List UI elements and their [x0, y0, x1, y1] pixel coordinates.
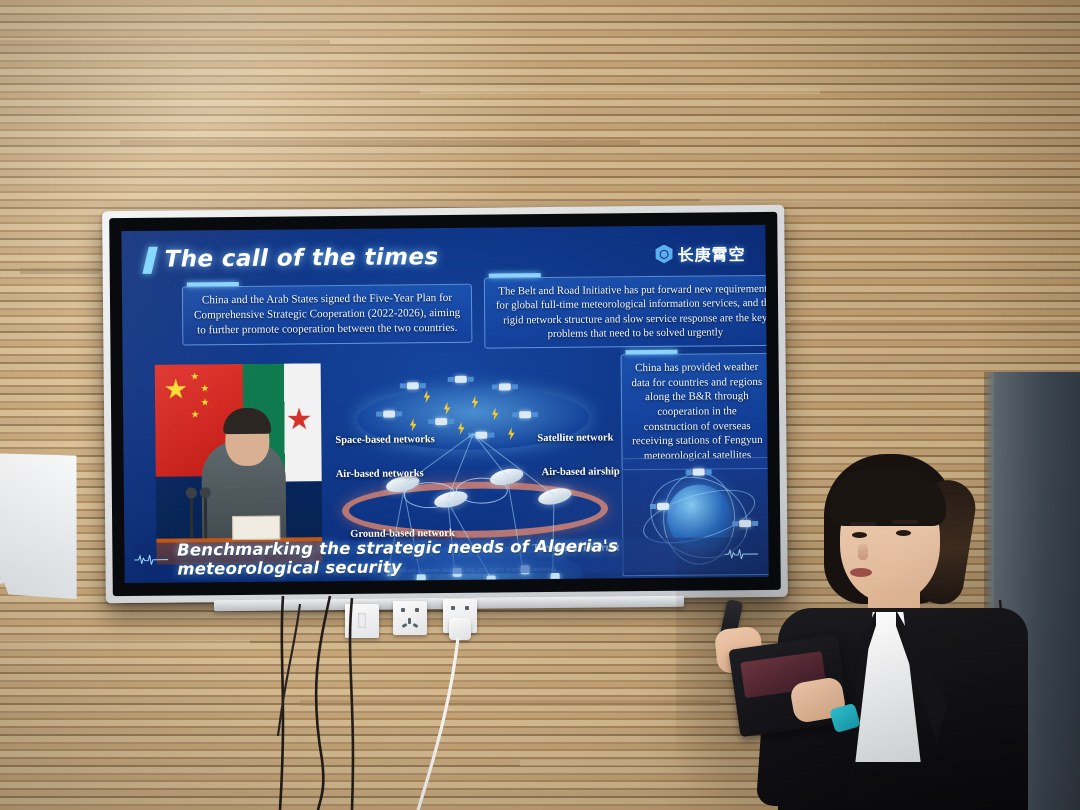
- presenter-eyebrow: [850, 522, 876, 526]
- logo-text: 长庚霄空: [677, 241, 745, 266]
- wall-slat-streak: [120, 140, 640, 146]
- presenter-hair-front: [828, 468, 946, 526]
- presenter: [700, 452, 1030, 810]
- microphone: [204, 494, 207, 538]
- microphone: [190, 494, 193, 538]
- wall-slat-streak: [0, 640, 250, 646]
- satellite-icon: [657, 503, 669, 510]
- flag-star: [191, 372, 199, 380]
- flag-star: [165, 378, 187, 400]
- callout-accent-tab: [489, 273, 541, 277]
- flag-star: [201, 398, 209, 406]
- flag-star: [287, 407, 311, 431]
- slide-title: The call of the times: [164, 244, 438, 273]
- presenter-mouth: [850, 568, 872, 577]
- hexagon-logo-icon: [655, 244, 672, 263]
- ecg-waveform-icon: [134, 552, 168, 568]
- callout-text: China has provided weather data for coun…: [631, 361, 762, 462]
- presenter-nose: [858, 544, 868, 560]
- wall-slat-streak: [0, 40, 330, 46]
- wall-slat-streak: [20, 268, 100, 274]
- television[interactable]: The call of the times 长庚霄空 China and the…: [102, 205, 788, 604]
- callout-accent-tab: [625, 350, 677, 354]
- power-outlet-1[interactable]: [393, 601, 427, 635]
- wall-slat-streak: [420, 88, 820, 94]
- diagram-label-space-based-networks: Space-based networks: [335, 434, 435, 446]
- company-logo: 长庚霄空: [655, 241, 745, 266]
- wall-slat-streak: [700, 196, 1080, 202]
- leader-photo: [155, 363, 323, 565]
- wall-slat-streak: [300, 700, 720, 706]
- callout-text: China and the Arab States signed the Fiv…: [194, 292, 460, 336]
- presenter-eye: [896, 530, 911, 536]
- callout-belt-and-road: The Belt and Road Initiative has put for…: [484, 275, 769, 349]
- presentation-slide: The call of the times 长庚霄空 China and the…: [121, 225, 768, 583]
- wall-slat-streak: [790, 320, 1080, 326]
- wall-paper-sheet: [0, 451, 80, 601]
- callout-accent-tab: [187, 282, 239, 286]
- photo-scene: The call of the times 长庚霄空 China and the…: [0, 0, 1080, 810]
- flag-star: [191, 410, 199, 418]
- tv-inner-frame: The call of the times 长庚霄空 China and the…: [109, 212, 781, 596]
- presenter-eyebrow: [892, 520, 918, 524]
- light-switch-plate[interactable]: [345, 604, 379, 638]
- title-accent-bar: [142, 246, 157, 273]
- callout-china-arab: China and the Arab States signed the Fiv…: [182, 284, 473, 345]
- diagram-label-satellite-network: Satellite network: [537, 432, 613, 444]
- diagram-label-air-based-airship: Air-based airship: [542, 466, 620, 478]
- banner-text: Benchmarking the strategic needs of Alge…: [177, 535, 716, 578]
- diagram-label-air-based-networks: Air-based networks: [336, 468, 424, 480]
- callout-text: The Belt and Road Initiative has put for…: [496, 283, 769, 340]
- tv-bezel: The call of the times 长庚霄空 China and the…: [102, 205, 788, 604]
- flag-star: [201, 384, 209, 392]
- name-plate: [232, 516, 280, 540]
- presenter-eye: [852, 532, 867, 538]
- tv-screen: The call of the times 长庚霄空 China and the…: [121, 225, 768, 583]
- power-plug: [449, 618, 471, 640]
- slide-bottom-banner: Benchmarking the strategic needs of Alge…: [134, 537, 758, 577]
